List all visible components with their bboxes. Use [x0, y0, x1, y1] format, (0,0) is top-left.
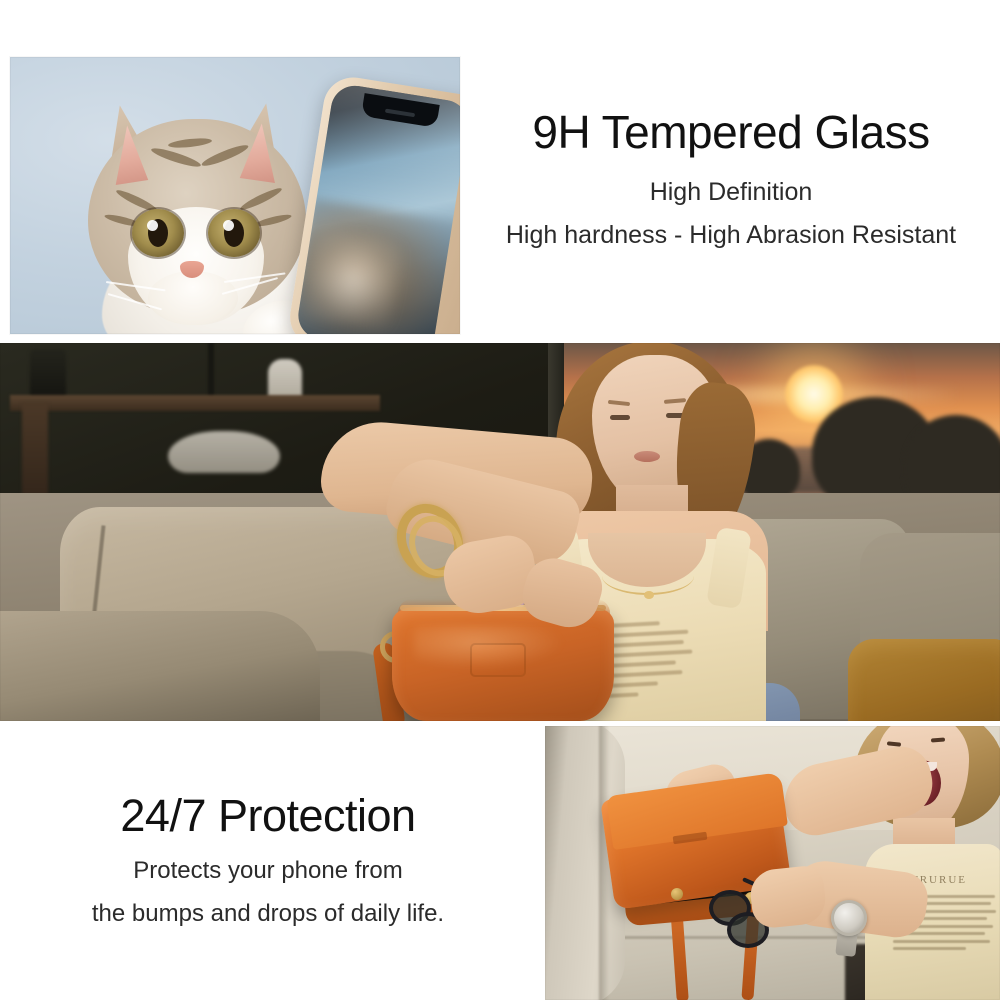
panel-shocked-woman-bag: TRURUE: [545, 726, 1000, 1000]
protection-subline-2: the bumps and drops of daily life.: [18, 898, 518, 930]
handbag-clasp: [671, 888, 683, 900]
product-collage-page: 9H Tempered Glass High Definition High h…: [0, 0, 1000, 1000]
panel-woman-phone-into-bag: [0, 343, 1000, 721]
background-cushion: [168, 431, 280, 473]
kitten-muzzle: [148, 271, 238, 325]
kitten-eye-glint: [223, 220, 234, 231]
protection-subline-1: Protects your phone from: [18, 855, 518, 887]
wristwatch: [831, 900, 867, 936]
protection-headline: 24/7 Protection: [18, 792, 518, 839]
tempered-glass-headline: 9H Tempered Glass: [466, 108, 996, 156]
sofa-arm: [0, 611, 320, 721]
phone-screen-reflection-secondary: [304, 230, 402, 329]
kitten-eye-right: [208, 209, 260, 257]
panel-kitten-phone: [10, 57, 460, 334]
dark-vase: [30, 349, 66, 401]
protection-text-block: 24/7 Protection Protects your phone from…: [18, 792, 518, 930]
phone-earpiece-speaker: [385, 109, 415, 118]
tempered-glass-subline-2: High hardness - High Abrasion Resistant: [466, 219, 996, 253]
handbag-highlight: [414, 625, 564, 669]
woman-eye-left: [610, 415, 630, 420]
woman-lips: [634, 451, 660, 462]
kitten-eye-glint: [147, 220, 158, 231]
gold-necklace: [602, 557, 694, 595]
armrest-shadow: [599, 726, 609, 1000]
mustard-throw-pillow: [848, 639, 1000, 721]
necklace-pendant: [644, 591, 654, 599]
tempered-glass-text-block: 9H Tempered Glass High Definition High h…: [466, 108, 996, 253]
console-shelf: [10, 395, 380, 411]
tempered-glass-subline-1: High Definition: [466, 176, 996, 210]
kitten-eye-left: [132, 209, 184, 257]
